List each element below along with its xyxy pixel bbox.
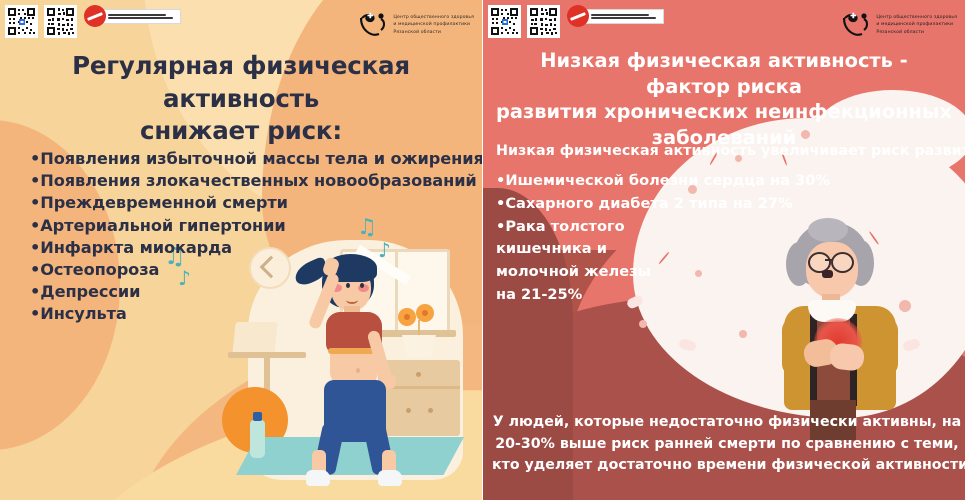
list-item: •Сахарного диабета 2 типа на 27% [496,193,796,216]
org-line-2: и медицинской профилактики [876,21,957,28]
stamp-circle [567,5,589,27]
sneaker-icon [306,470,330,486]
no-smoking-stamp-icon [567,5,664,27]
stamp-bar [570,12,586,21]
list-item: на 21-25% [496,284,796,307]
right-hand [829,342,866,371]
org-logo-block: Центр общественного здоровья и медицинск… [841,11,957,39]
stamp-text-line [108,14,166,16]
left-panel: ♪ ♫ ♫ ♪ [0,0,482,500]
org-line-2: и медицинской профилактики [393,21,474,28]
right-bottom-note: У людей, которые недостаточно физически … [492,412,962,477]
mouth [822,270,833,278]
stamp-bar [87,12,103,21]
list-item: •Остеопороза [30,259,460,281]
list-item: •Инсульта [30,303,460,325]
list-item: •Артериальной гипертонии [30,215,460,237]
qr-code-icon[interactable] [5,5,38,38]
right-title-line-1: Низкая физическая активность - фактор ри… [495,48,953,99]
list-item: •Депрессии [30,281,460,303]
bottom-line-3: кто уделяет достаточно времени физическо… [492,455,962,477]
bottom-line-2: 20-30% выше риск ранней смерти по сравне… [492,434,962,456]
left-header-bar: Центр общественного здоровья и медицинск… [0,5,482,43]
cabinet-knob [428,408,433,413]
org-logo-block: Центр общественного здоровья и медицинск… [358,11,474,39]
bottom-line-1: У людей, которые недостаточно физически … [492,412,962,434]
decorative-dot [639,320,647,328]
org-line-1: Центр общественного здоровья [393,14,474,21]
org-line-3: Рязанской области [876,29,957,36]
org-name-text: Центр общественного здоровья и медицинск… [876,14,957,35]
stamp-label [103,9,181,24]
left-title: Регулярная физическая активность снижает… [0,50,482,148]
left-title-line-1: Регулярная физическая активность [0,50,482,115]
glasses-bridge [825,259,833,261]
infographic-poster: ♪ ♫ ♫ ♪ [0,0,965,500]
list-item: •Инфаркта миокарда [30,237,460,259]
panel-divider [482,0,483,500]
stamp-label [586,9,664,24]
left-title-line-2: снижает риск: [0,115,482,148]
right-title: Низкая физическая активность - фактор ри… [495,48,953,150]
laptop-icon [232,322,277,354]
no-smoking-stamp-icon [84,5,181,27]
stamp-text-line [591,14,649,16]
health-center-logo-icon [841,11,871,39]
navel [356,368,360,373]
org-line-3: Рязанской области [393,29,474,36]
qr-code-icon[interactable] [44,5,77,38]
qr-code-icon[interactable] [527,5,560,38]
list-item: кишечника и [496,238,796,261]
sneaker-icon [378,470,402,486]
org-line-1: Центр общественного здоровья [876,14,957,21]
list-item: •Ишемической болезни сердца на 30% [496,170,796,193]
left-bullet-list: •Появления избыточной массы тела и ожире… [30,148,460,326]
decorative-dot [739,330,747,338]
health-center-logo-icon [358,11,388,39]
stamp-circle [84,5,106,27]
water-bottle [250,420,265,458]
stamp-text-line [108,17,173,19]
hair-bun [808,218,848,242]
right-header-bar: Центр общественного здоровья и медицинск… [483,5,965,43]
list-item: •Появления избыточной массы тела и ожире… [30,148,460,170]
bottle-cap [253,412,262,421]
right-title-line-2: развития хронических неинфекционных [495,99,953,125]
right-intro-text: Низкая физическая активность увеличивает… [496,143,964,159]
list-item: •Преждевременной смерти [30,192,460,214]
right-bullet-list: •Ишемической болезни сердца на 30% •Саха… [496,170,796,307]
glasses-icon [831,252,854,273]
qr-code-icon[interactable] [488,5,521,38]
list-item: •Рака толстого [496,216,796,239]
stamp-text-line [591,17,656,19]
list-item: молочной железы [496,261,796,284]
org-name-text: Центр общественного здоровья и медицинск… [393,14,474,35]
list-item: •Появления злокачественных новообразован… [30,170,460,192]
